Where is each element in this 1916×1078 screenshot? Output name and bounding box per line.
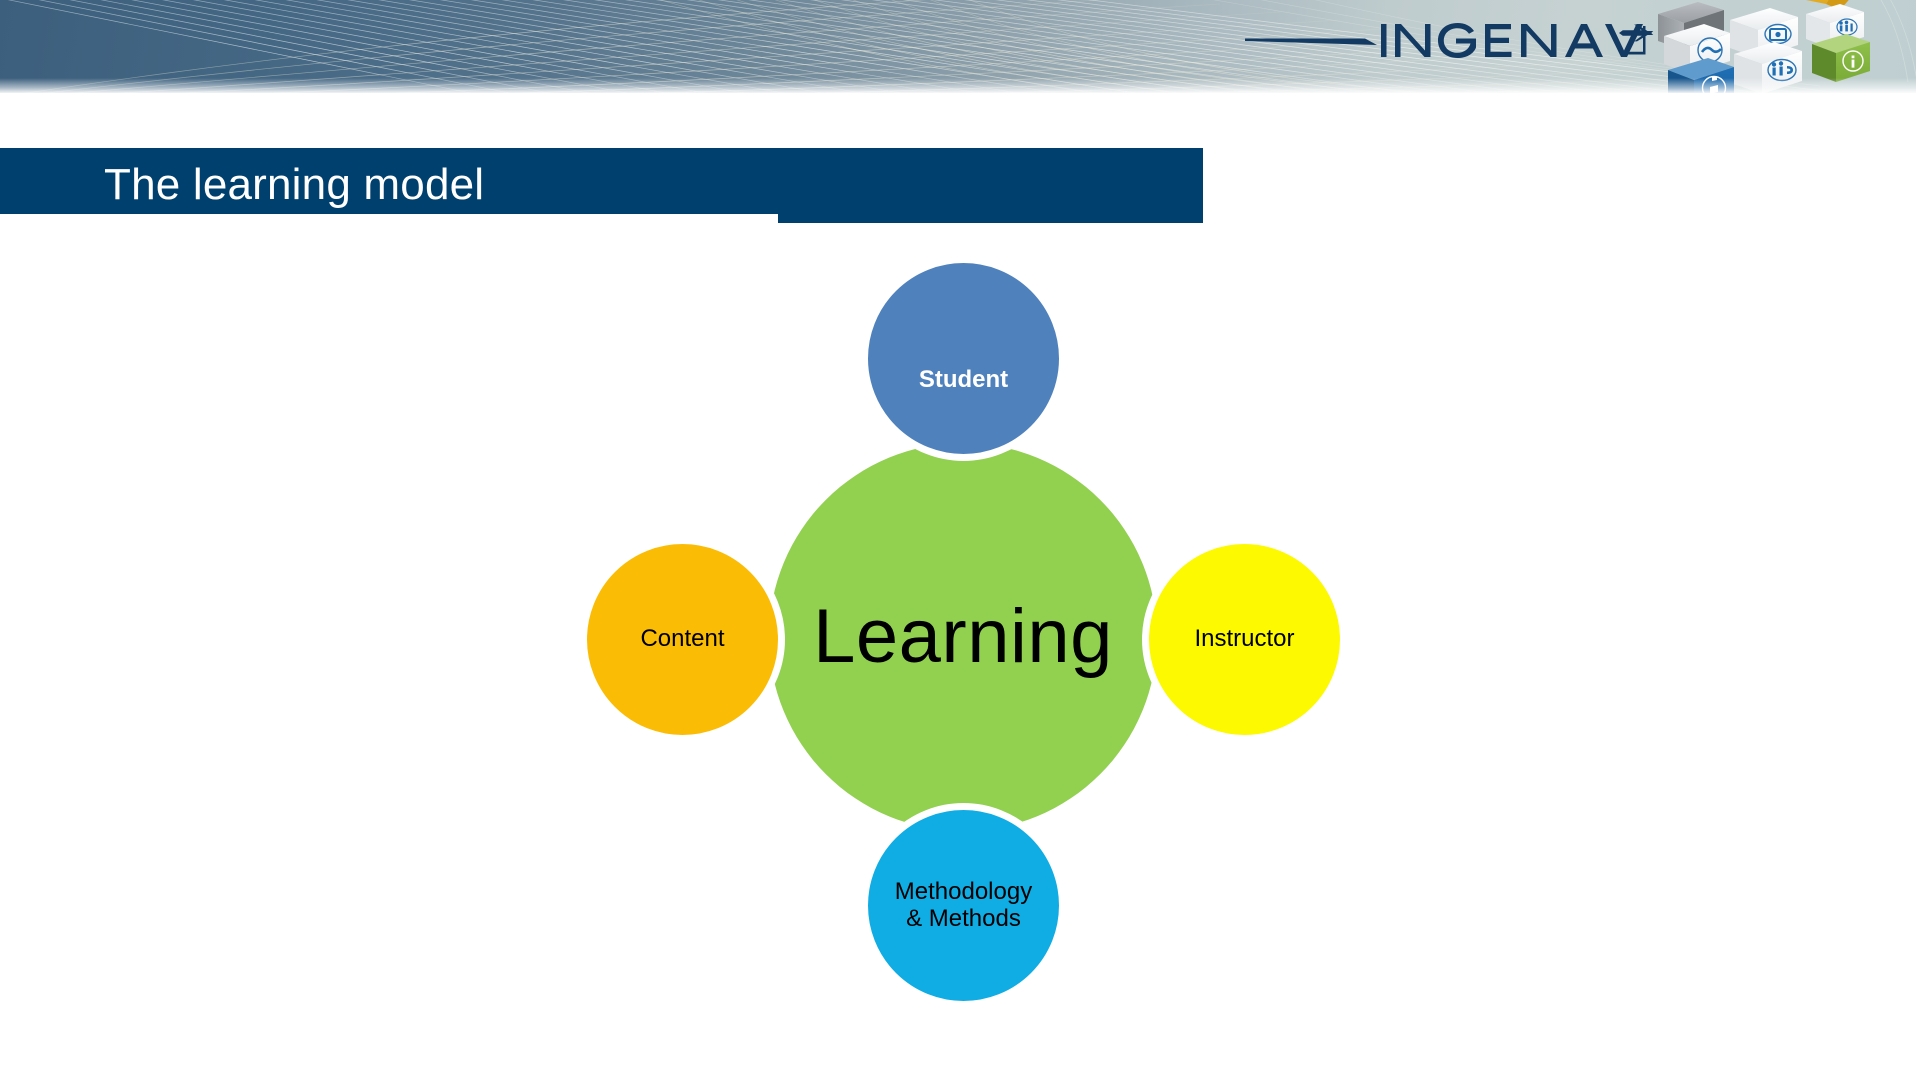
diagram-node-methodology-label: Methodology & Methods bbox=[895, 879, 1032, 933]
ingenav-logo-icon bbox=[1245, 14, 1665, 76]
learning-model-diagram: Learning Student Content Instructor Meth… bbox=[560, 240, 1360, 1040]
diagram-node-content[interactable]: Content bbox=[580, 537, 785, 742]
diagram-node-instructor[interactable]: Instructor bbox=[1142, 537, 1347, 742]
diagram-node-instructor-label: Instructor bbox=[1194, 626, 1294, 653]
diagram-node-learning[interactable]: Learning bbox=[769, 443, 1157, 831]
diagram-node-student[interactable]: Student bbox=[861, 256, 1066, 461]
diagram-node-content-label: Content bbox=[640, 626, 724, 653]
page-title: The learning model bbox=[104, 158, 484, 212]
diagram-node-methodology[interactable]: Methodology & Methods bbox=[861, 803, 1066, 1008]
diagram-node-student-label: Student bbox=[919, 367, 1008, 394]
header-band bbox=[0, 0, 1916, 93]
brand-logo bbox=[1245, 14, 1665, 76]
diagram-node-learning-label: Learning bbox=[813, 594, 1113, 679]
header-fade bbox=[0, 78, 1916, 93]
slide-canvas: The learning model Learning Student Cont… bbox=[0, 0, 1916, 1078]
